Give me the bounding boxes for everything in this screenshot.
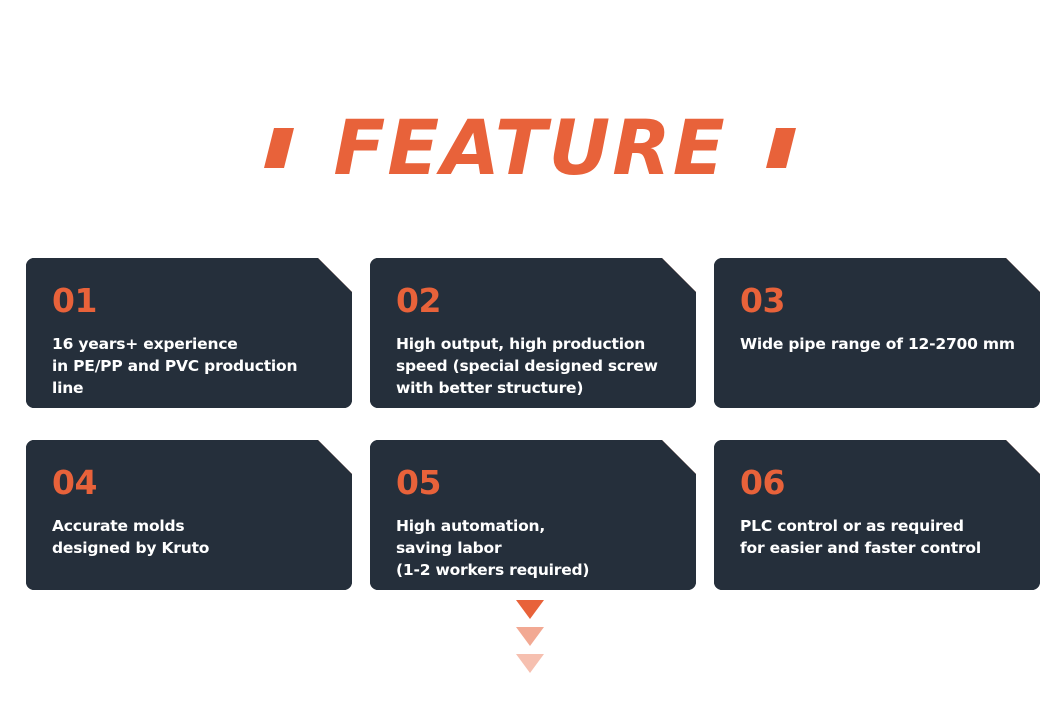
slash-mark-left-icon: [264, 128, 294, 168]
card-description: Accurate molds designed by Kruto: [52, 515, 330, 559]
page-title-row: FEATURE: [0, 100, 1060, 195]
feature-card-grid: 01 16 years+ experience in PE/PP and PVC…: [26, 258, 1035, 590]
feature-page: { "title": { "text": "FEATURE", "mark_le…: [0, 0, 1060, 705]
card-content: 05 High automation, saving labor (1-2 wo…: [396, 466, 674, 581]
card-number: 04: [52, 466, 330, 499]
feature-card-02[interactable]: 02 High output, high production speed (s…: [370, 258, 696, 408]
scroll-down-arrows: [0, 600, 1060, 673]
slash-mark-right-icon: [766, 128, 796, 168]
card-number: 03: [740, 284, 1018, 317]
card-description: PLC control or as required for easier an…: [740, 515, 1018, 559]
card-number: 06: [740, 466, 1018, 499]
chevron-down-icon: [516, 627, 544, 646]
card-description: High automation, saving labor (1-2 worke…: [396, 515, 674, 581]
card-number: 05: [396, 466, 674, 499]
card-description: Wide pipe range of 12-2700 mm: [740, 333, 1018, 355]
feature-card-04[interactable]: 04 Accurate molds designed by Kruto: [26, 440, 352, 590]
feature-card-06[interactable]: 06 PLC control or as required for easier…: [714, 440, 1040, 590]
card-description: High output, high production speed (spec…: [396, 333, 674, 399]
chevron-down-icon: [516, 600, 544, 619]
chevron-down-icon: [516, 654, 544, 673]
card-number: 02: [396, 284, 674, 317]
page-title: FEATURE: [333, 110, 726, 186]
feature-card-01[interactable]: 01 16 years+ experience in PE/PP and PVC…: [26, 258, 352, 408]
feature-card-03[interactable]: 03 Wide pipe range of 12-2700 mm: [714, 258, 1040, 408]
card-content: 03 Wide pipe range of 12-2700 mm: [740, 284, 1018, 355]
card-number: 01: [52, 284, 330, 317]
card-content: 06 PLC control or as required for easier…: [740, 466, 1018, 559]
card-content: 04 Accurate molds designed by Kruto: [52, 466, 330, 559]
feature-card-05[interactable]: 05 High automation, saving labor (1-2 wo…: [370, 440, 696, 590]
card-description: 16 years+ experience in PE/PP and PVC pr…: [52, 333, 330, 399]
card-content: 01 16 years+ experience in PE/PP and PVC…: [52, 284, 330, 399]
card-content: 02 High output, high production speed (s…: [396, 284, 674, 399]
